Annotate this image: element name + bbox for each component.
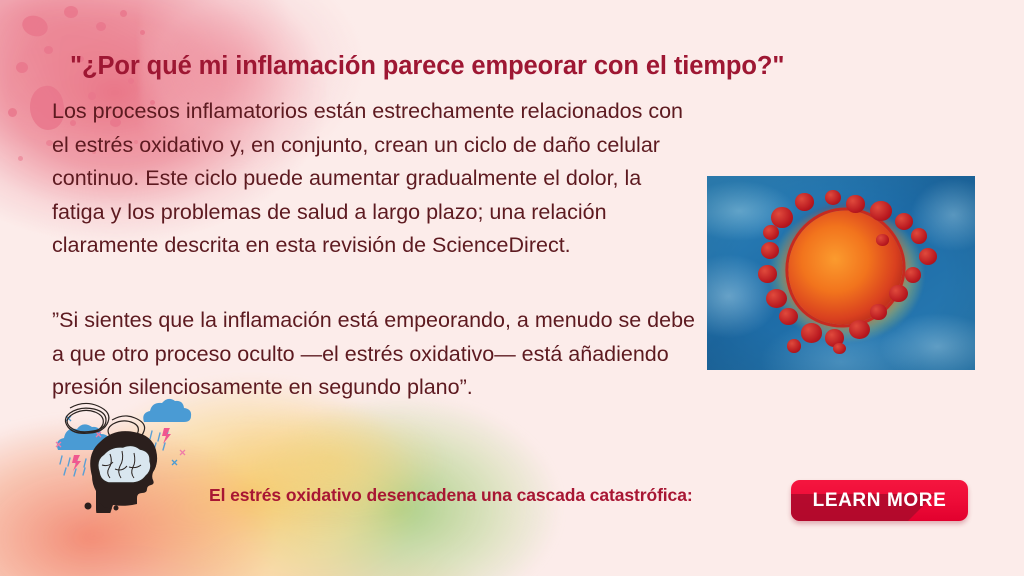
learn-more-label: LEARN MORE [791,480,968,521]
promo-card: "¿Por qué mi inflamación parece empeorar… [0,0,1024,576]
tagline: El estrés oxidativo desencadena una casc… [209,485,693,506]
warm-watercolor-wash-secondary [180,386,480,536]
body-paragraph-1: Los procesos inflamatorios están estrech… [52,95,697,263]
stressed-head-illustration [52,398,212,513]
headline: "¿Por qué mi inflamación parece empeorar… [70,52,970,81]
body-paragraph-2: ”Si sientes que la inflamación está empe… [52,304,697,405]
learn-more-button[interactable]: LEARN MORE [791,480,968,521]
stressed-head-svg [52,398,212,513]
cell-vignette [707,176,975,370]
cell-micrograph [707,176,975,370]
